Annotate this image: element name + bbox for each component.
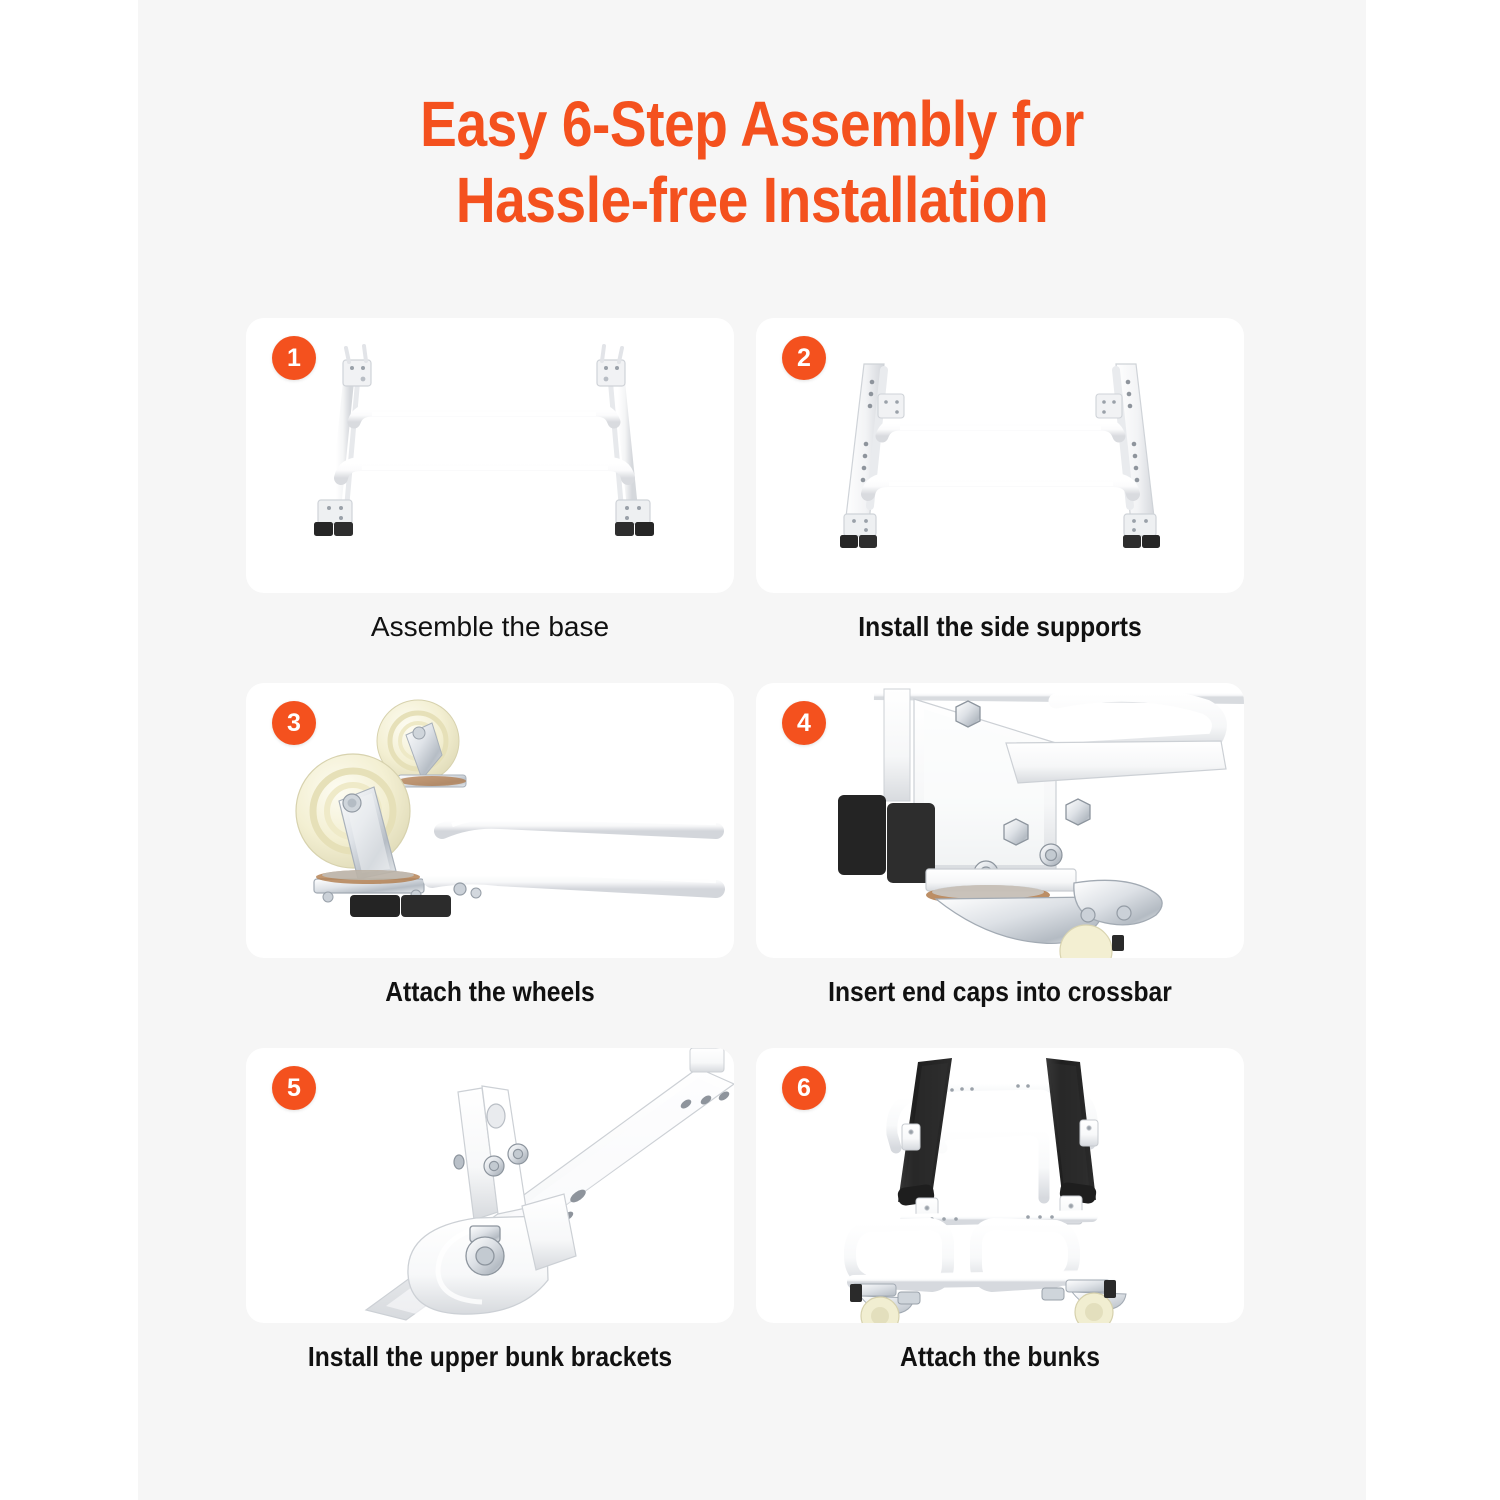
step-badge-4: 4 — [782, 701, 826, 745]
step-card-5[interactable]: 5 — [246, 1048, 734, 1323]
step-card-6[interactable]: 6 — [756, 1048, 1244, 1323]
steps-row-1: 1 — [138, 318, 1366, 683]
step-caption-5: Install the upper bunk brackets — [275, 1340, 704, 1374]
steps-row-3: 5 — [138, 1048, 1366, 1413]
page-title: Easy 6-Step Assembly for Hassle-free Ins… — [224, 86, 1280, 238]
illustration-casters — [246, 683, 734, 958]
step-card-4[interactable]: 4 — [756, 683, 1244, 958]
page-root: Easy 6-Step Assembly for Hassle-free Ins… — [0, 0, 1500, 1500]
illustration-end-caps — [756, 683, 1244, 958]
step-caption-4: Insert end caps into crossbar — [785, 975, 1214, 1009]
step-cell-6: 6 — [756, 1048, 1244, 1323]
step-caption-2: Install the side supports — [785, 610, 1214, 644]
step-cell-1: 1 — [246, 318, 734, 593]
step-caption-1: Assemble the base — [246, 610, 734, 644]
step-card-3[interactable]: 3 — [246, 683, 734, 958]
step-badge-5: 5 — [272, 1066, 316, 1110]
content-canvas: Easy 6-Step Assembly for Hassle-free Ins… — [138, 0, 1366, 1500]
title-line-2: Hassle-free Installation — [224, 162, 1280, 238]
step-cell-4: 4 — [756, 683, 1244, 958]
title-line-1: Easy 6-Step Assembly for — [224, 86, 1280, 162]
step-badge-2: 2 — [782, 336, 826, 380]
step-badge-1: 1 — [272, 336, 316, 380]
step-caption-3: Attach the wheels — [275, 975, 704, 1009]
illustration-side-supports — [756, 318, 1244, 593]
illustration-finished-dolly — [756, 1048, 1244, 1323]
step-cell-5: 5 — [246, 1048, 734, 1323]
step-badge-3: 3 — [272, 701, 316, 745]
illustration-bunk-bracket — [246, 1048, 734, 1323]
steps-grid: 1 — [138, 318, 1366, 1413]
step-card-1[interactable]: 1 — [246, 318, 734, 593]
step-cell-2: 2 — [756, 318, 1244, 593]
step-cell-3: 3 — [246, 683, 734, 958]
step-caption-6: Attach the bunks — [785, 1340, 1214, 1374]
step-badge-6: 6 — [782, 1066, 826, 1110]
step-card-2[interactable]: 2 — [756, 318, 1244, 593]
steps-row-2: 3 — [138, 683, 1366, 1048]
illustration-base-frame — [246, 318, 734, 593]
